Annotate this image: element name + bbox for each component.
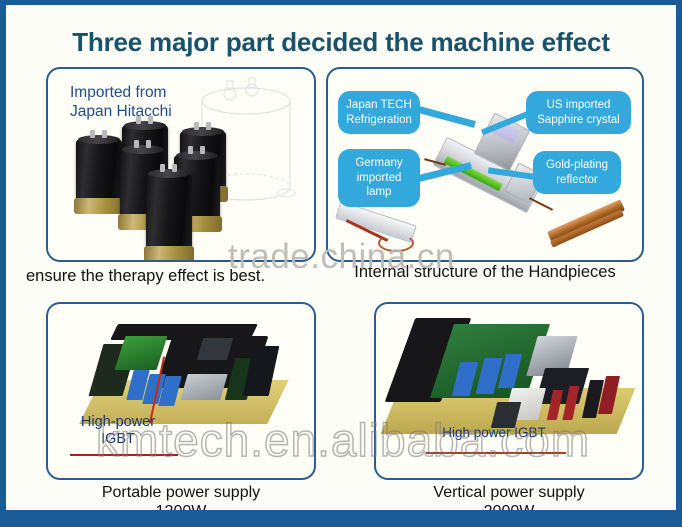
high-power-igbt-label: High power IGBT [434,424,554,441]
callout-gold-plating-reflector: Gold-plating reflector [533,151,621,194]
capacitor-top [176,151,218,160]
capacitor-top [78,135,120,144]
vertical-psu-caption: Vertical power supply 2000W [374,483,644,510]
capacitor-panel: Imported from Japan Hitacchi [46,67,316,262]
psu-green-pcb [114,336,167,370]
capacitor-terminal [160,164,165,172]
hitachi-origin-label: Imported from Japan Hitacchi [70,83,172,121]
capacitor-bank-image [70,117,285,262]
capacitor-base [144,246,194,262]
psu-connector [197,338,233,360]
lamp-wire-loop [378,234,414,252]
igbt-underline [426,452,566,454]
capacitor-base [74,198,124,214]
callout-germany-imported-lamp: Germany imported lamp [338,149,420,207]
vertical-power-supply-panel: High power IGBT [374,302,644,480]
capacitor-terminal [146,140,151,148]
capacitor-unit [146,173,192,253]
handpiece-panel: Japan TECH Refrigeration Germany importe… [326,67,644,262]
handpiece-panel-content: Japan TECH Refrigeration Germany importe… [328,69,642,260]
portable-psu-content: High-power IGBT [48,304,314,478]
capacitor-terminal [102,130,107,138]
capacitor-panel-content: Imported from Japan Hitacchi [48,69,314,260]
capacitor-top [182,127,224,136]
capacitor-terminal [134,140,139,148]
capacitor-terminal [194,122,199,130]
igbt-underline [70,454,178,456]
capacitor-terminal [90,130,95,138]
handpiece-panel-caption: Internal structure of the Handpieces [326,263,644,282]
vertical-psu-content: High power IGBT [376,304,642,478]
callout-japan-tech-refrigeration: Japan TECH Refrigeration [338,91,420,134]
capacitor-unit [76,139,122,205]
portable-psu-caption: Portable power supply 1200W [46,483,316,510]
capacitor-panel-caption: ensure the therapy effect is best. [26,267,326,286]
capacitor-top [148,169,190,178]
capacitor-terminal [206,122,211,130]
gold-reflector-part-image [546,209,632,253]
capacitor-top [122,145,164,154]
handpiece-output-rod [529,197,553,211]
outer-frame: Three major part decided the machine eff… [0,0,682,527]
high-power-igbt-label: High-power IGBT [62,414,174,448]
vertical-psu-image [390,314,634,464]
capacitor-terminal [172,164,177,172]
capacitor-top [124,121,166,130]
imported-lamp-part-image [334,209,430,255]
capacitor-terminal [200,146,205,154]
psu-transformer [180,374,227,400]
portable-power-supply-panel: High-power IGBT [46,302,316,480]
page-title: Three major part decided the machine eff… [6,27,676,58]
capacitor-terminal [188,146,193,154]
slide-canvas: Three major part decided the machine eff… [6,5,676,510]
callout-us-imported-sapphire-crystal: US imported Sapphire crystal [526,91,631,134]
